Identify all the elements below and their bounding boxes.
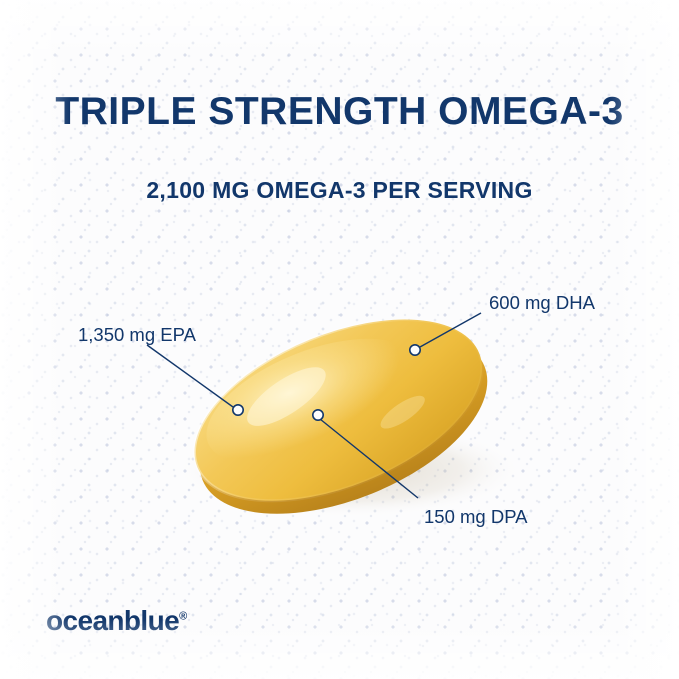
callout-label-epa: 1,350 mg EPA (78, 324, 196, 346)
product-infographic: TRIPLE STRENGTH OMEGA-3 2,100 MG OMEGA-3… (0, 0, 679, 679)
callout-label-dpa: 150 mg DPA (424, 506, 528, 528)
brand-logo: oceanblue® (46, 605, 187, 637)
page-subtitle: 2,100 MG OMEGA-3 PER SERVING (0, 177, 679, 204)
brand-name: oceanblue (46, 605, 179, 636)
page-title: TRIPLE STRENGTH OMEGA-3 (0, 92, 679, 133)
callout-label-dha: 600 mg DHA (489, 292, 595, 314)
registered-trademark-icon: ® (179, 611, 187, 623)
